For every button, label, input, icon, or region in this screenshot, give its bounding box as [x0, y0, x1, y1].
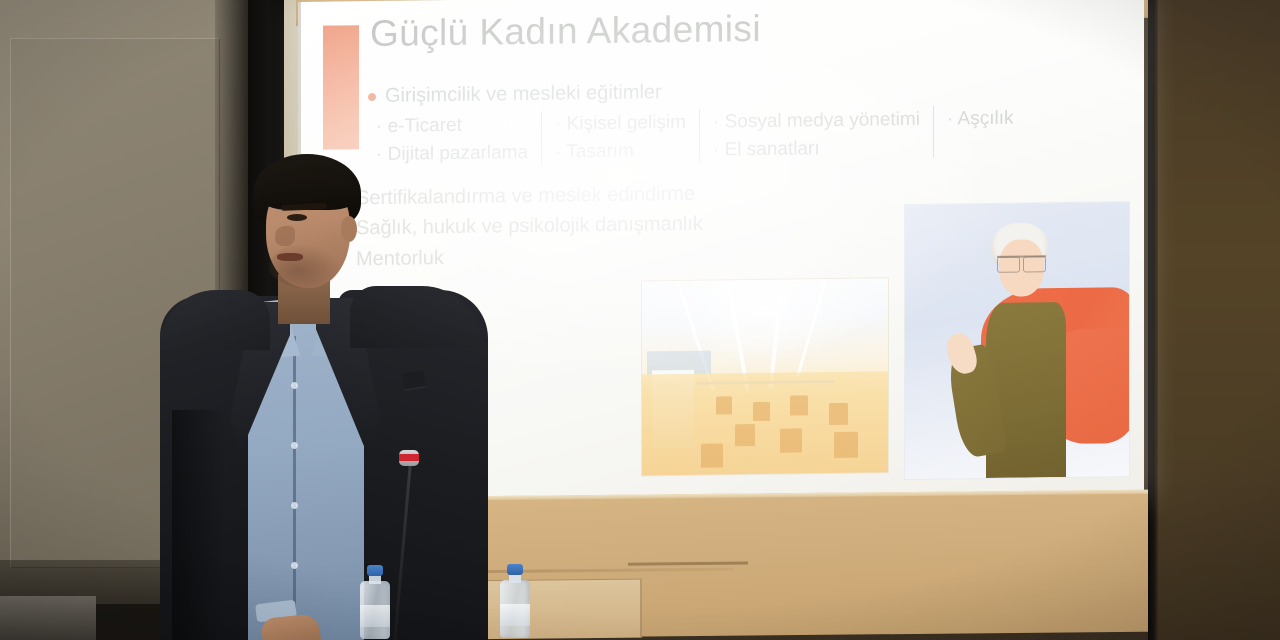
presentation-photo: Güçlü Kadın Akademisi Girişimcilik ve me… [0, 0, 1280, 640]
slide-column: Aşçılık [933, 104, 1027, 157]
slide-bullet-main: Girişimcilik ve mesleki eğitimler [368, 81, 662, 108]
bullet-dot-icon [368, 92, 376, 100]
slide-column: Kişisel gelişim Tasarım [541, 109, 699, 167]
podium-seam-short [628, 562, 748, 566]
water-bottle-left [358, 565, 392, 639]
face-shadow [269, 244, 341, 288]
shoulder-left [160, 290, 270, 350]
column-line: Aşçılık [947, 105, 1014, 134]
slide-image-auditorium [642, 278, 888, 475]
eye [287, 214, 307, 221]
side-desk [0, 596, 96, 640]
column-line: Sosyal medya yönetimi [713, 106, 920, 136]
column-line: Tasarım [555, 137, 686, 166]
nose [275, 226, 295, 246]
slide-title: Güçlü Kadın Akademisi [370, 8, 761, 55]
arm-shadow [172, 410, 226, 640]
bottle-cap [367, 565, 383, 576]
slide-accent-block [323, 25, 359, 149]
ear [341, 216, 357, 242]
mouth [277, 253, 303, 261]
bottle-cap [507, 564, 523, 575]
head [253, 154, 361, 292]
column-line: El sanatları [713, 134, 920, 164]
column-line: e-Ticaret [376, 111, 528, 141]
microphone-indicator [399, 454, 419, 461]
column-line: Kişisel gelişim [555, 109, 686, 138]
water-bottle-right [498, 564, 532, 638]
bullet-main-label: Girişimcilik ve mesleki eğitimler [385, 81, 662, 108]
slide-image-woman [905, 202, 1129, 479]
slide-column: Sosyal medya yönetimi El sanatları [699, 106, 933, 165]
right-wall [1148, 0, 1280, 640]
